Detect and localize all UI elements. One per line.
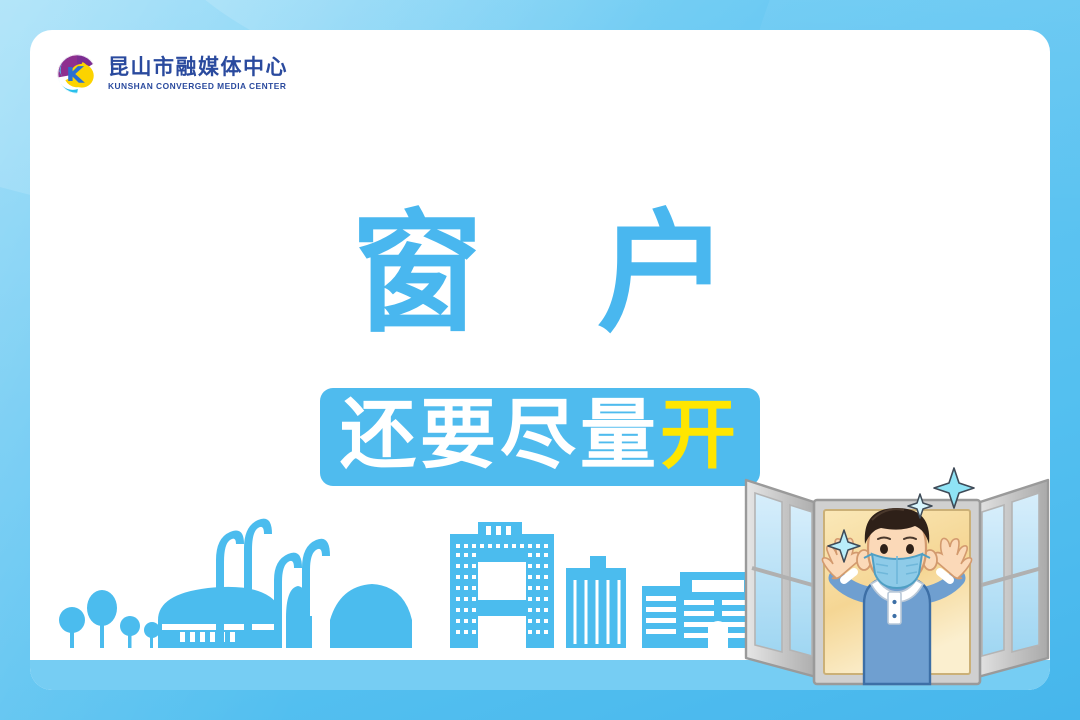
person-opening-window-illustration [732,452,1050,690]
content-card: 昆山市融媒体中心 KUNSHAN CONVERGED MEDIA CENTER … [30,30,1050,690]
window-leaf-left [746,480,820,678]
headline-title: 窗 户 [30,198,1050,351]
brand-name-cn: 昆山市融媒体中心 [108,57,288,78]
subtitle-text-white: 还要尽量 [340,397,660,473]
media-center-logo-icon [55,52,99,96]
brand-logo-text: 昆山市融媒体中心 KUNSHAN CONVERGED MEDIA CENTER [108,57,288,91]
window-leaf-right [974,480,1048,678]
poster-canvas: 昆山市融媒体中心 KUNSHAN CONVERGED MEDIA CENTER … [0,0,1080,720]
subtitle-text-highlight: 开 [660,397,740,473]
brand-name-en: KUNSHAN CONVERGED MEDIA CENTER [108,82,288,90]
brand-logo: 昆山市融媒体中心 KUNSHAN CONVERGED MEDIA CENTER [55,52,288,96]
